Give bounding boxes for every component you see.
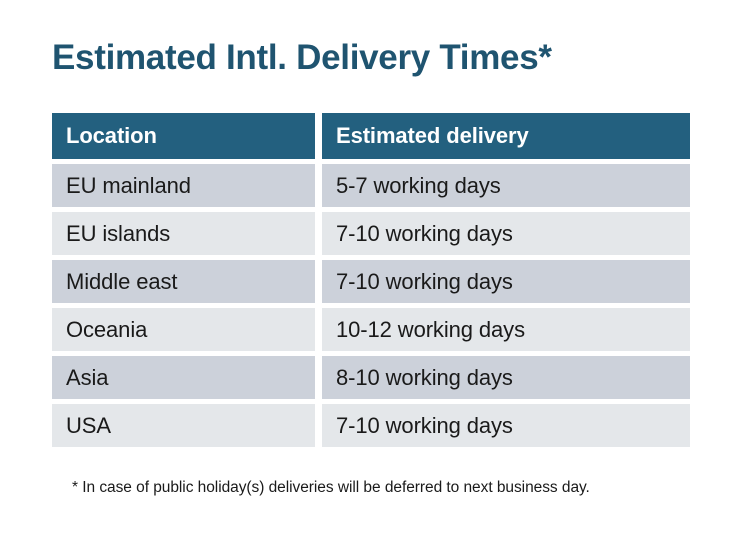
cell-delivery: 7-10 working days bbox=[322, 404, 690, 447]
cell-location: Oceania bbox=[52, 308, 315, 351]
cell-divider bbox=[315, 404, 322, 447]
table-row: EU islands 7-10 working days bbox=[52, 212, 690, 255]
column-divider bbox=[315, 113, 322, 159]
table-row: Middle east 7-10 working days bbox=[52, 260, 690, 303]
cell-location: Middle east bbox=[52, 260, 315, 303]
column-header-location: Location bbox=[52, 113, 315, 159]
table-row: USA 7-10 working days bbox=[52, 404, 690, 447]
cell-delivery: 8-10 working days bbox=[322, 356, 690, 399]
delivery-times-page: Estimated Intl. Delivery Times* Location… bbox=[0, 0, 745, 536]
cell-divider bbox=[315, 164, 322, 207]
cell-divider bbox=[315, 212, 322, 255]
table-header: Location Estimated delivery bbox=[52, 113, 690, 159]
column-header-estimated-delivery: Estimated delivery bbox=[322, 113, 690, 159]
table-row: EU mainland 5-7 working days bbox=[52, 164, 690, 207]
cell-divider bbox=[315, 308, 322, 351]
cell-location: EU islands bbox=[52, 212, 315, 255]
footnote-text: * In case of public holiday(s) deliverie… bbox=[72, 478, 590, 498]
cell-delivery: 10-12 working days bbox=[322, 308, 690, 351]
cell-location: EU mainland bbox=[52, 164, 315, 207]
cell-location: Asia bbox=[52, 356, 315, 399]
cell-delivery: 5-7 working days bbox=[322, 164, 690, 207]
table-header-row: Location Estimated delivery bbox=[52, 113, 690, 159]
cell-delivery: 7-10 working days bbox=[322, 212, 690, 255]
table-row: Oceania 10-12 working days bbox=[52, 308, 690, 351]
cell-delivery: 7-10 working days bbox=[322, 260, 690, 303]
table-row: Asia 8-10 working days bbox=[52, 356, 690, 399]
cell-location: USA bbox=[52, 404, 315, 447]
table-body: EU mainland 5-7 working days EU islands … bbox=[52, 159, 690, 447]
page-title: Estimated Intl. Delivery Times* bbox=[52, 36, 552, 80]
cell-divider bbox=[315, 356, 322, 399]
cell-divider bbox=[315, 260, 322, 303]
estimated-delivery-table: Location Estimated delivery EU mainland … bbox=[52, 113, 690, 447]
